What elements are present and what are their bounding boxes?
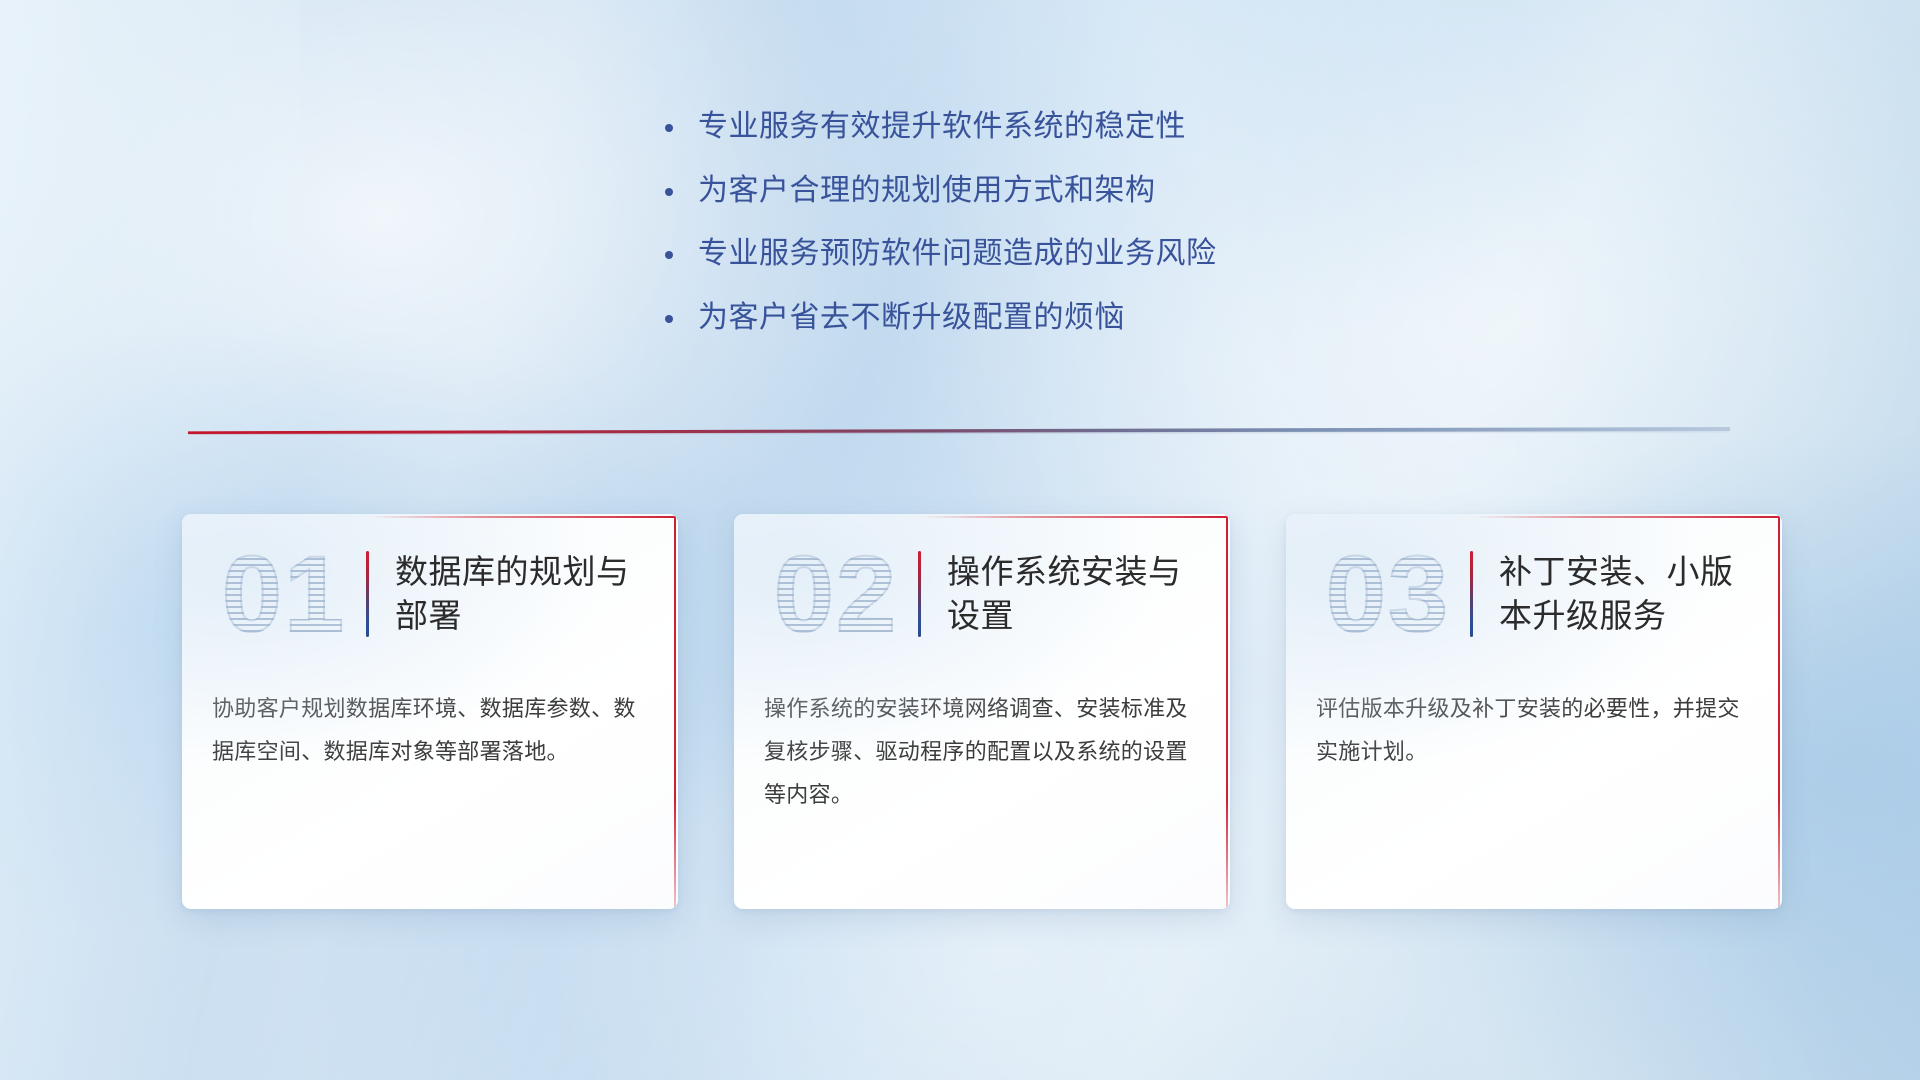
card-title: 操作系统安装与设置 [947, 550, 1200, 638]
service-cards-row: 01 数据库的规划与部署 协助客户规划数据库环境、数据库参数、数据库空间、数据库… [182, 514, 1782, 909]
service-card-02[interactable]: 02 操作系统安装与设置 操作系统的安装环境网络调查、安装标准及复核步骤、驱动程… [734, 514, 1230, 909]
card-description: 评估版本升级及补丁安装的必要性，并提交实施计划。 [1286, 674, 1782, 774]
card-title: 补丁安装、小版本升级服务 [1499, 550, 1752, 638]
bullet-item-label: 为客户省去不断升级配置的烦恼 [698, 299, 1125, 337]
card-number: 01 [208, 540, 360, 648]
slide-canvas: 专业服务有效提升软件系统的稳定性 为客户合理的规划使用方式和架构 专业服务预防软… [0, 0, 1920, 1080]
card-divider-bar [1470, 551, 1473, 637]
card-description: 协助客户规划数据库环境、数据库参数、数据库空间、数据库对象等部署落地。 [182, 674, 678, 774]
card-number: 02 [760, 540, 912, 648]
bullet-item-label: 为客户合理的规划使用方式和架构 [698, 172, 1156, 210]
bullet-point-icon [660, 188, 698, 196]
card-divider-bar [918, 551, 921, 637]
bullet-point-icon [660, 315, 698, 323]
list-item: 为客户合理的规划使用方式和架构 [660, 172, 1480, 210]
divider-glow [188, 430, 1730, 435]
card-divider-bar [366, 551, 369, 637]
card-header: 03 补丁安装、小版本升级服务 [1286, 514, 1782, 674]
divider-bar [188, 427, 1730, 434]
list-item: 专业服务有效提升软件系统的稳定性 [660, 108, 1480, 146]
list-item: 专业服务预防软件问题造成的业务风险 [660, 235, 1480, 273]
list-item: 为客户省去不断升级配置的烦恼 [660, 299, 1480, 337]
bullet-item-label: 专业服务有效提升软件系统的稳定性 [698, 108, 1186, 146]
benefits-bullet-list: 专业服务有效提升软件系统的稳定性 为客户合理的规划使用方式和架构 专业服务预防软… [660, 108, 1480, 362]
card-title: 数据库的规划与部署 [395, 550, 648, 638]
card-number: 03 [1312, 540, 1464, 648]
bullet-point-icon [660, 124, 698, 132]
section-divider [188, 425, 1730, 439]
bullet-item-label: 专业服务预防软件问题造成的业务风险 [698, 235, 1217, 273]
service-card-03[interactable]: 03 补丁安装、小版本升级服务 评估版本升级及补丁安装的必要性，并提交实施计划。 [1286, 514, 1782, 909]
service-card-01[interactable]: 01 数据库的规划与部署 协助客户规划数据库环境、数据库参数、数据库空间、数据库… [182, 514, 678, 909]
card-header: 02 操作系统安装与设置 [734, 514, 1230, 674]
card-description: 操作系统的安装环境网络调查、安装标准及复核步骤、驱动程序的配置以及系统的设置等内… [734, 674, 1230, 817]
card-header: 01 数据库的规划与部署 [182, 514, 678, 674]
bullet-point-icon [660, 251, 698, 259]
